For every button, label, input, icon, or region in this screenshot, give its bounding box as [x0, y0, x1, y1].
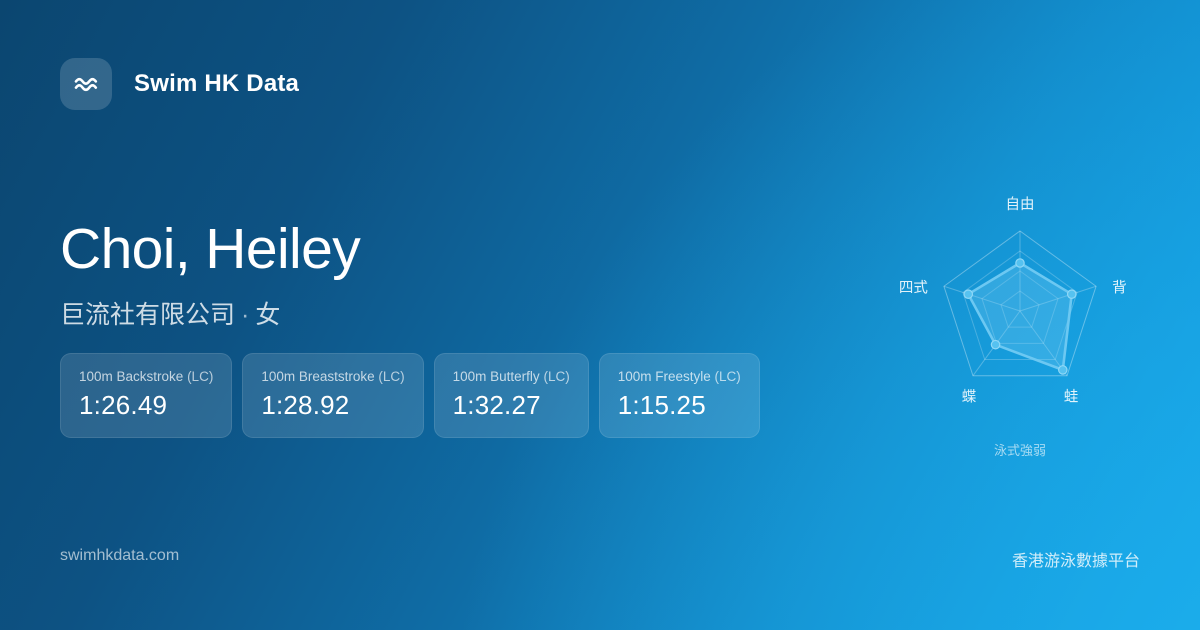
- stat-label: 100m Breaststroke (LC): [261, 369, 404, 384]
- stat-event-name: 100m Backstroke: [79, 369, 183, 384]
- footer-tagline: 香港游泳數據平台: [1012, 547, 1140, 571]
- stat-label: 100m Butterfly (LC): [453, 369, 570, 384]
- athlete-meta: 巨流社有限公司·女: [60, 295, 360, 331]
- stat-card: 100m Breaststroke (LC) 1:28.92: [242, 353, 423, 438]
- meta-separator: ·: [235, 301, 255, 329]
- stat-event-name: 100m Breaststroke: [261, 369, 374, 384]
- stat-value: 1:32.27: [453, 390, 570, 421]
- athlete-club: 巨流社有限公司: [60, 301, 235, 329]
- radar-axis-label: 蝶: [962, 389, 977, 406]
- stat-card: 100m Freestyle (LC) 1:15.25: [599, 353, 760, 438]
- stat-label: 100m Backstroke (LC): [79, 369, 213, 384]
- radar-data-point: [1068, 290, 1076, 298]
- stat-card-list: 100m Backstroke (LC) 1:26.49 100m Breast…: [60, 353, 760, 438]
- radar-caption: 泳式強弱: [860, 440, 1180, 459]
- radar-data-point: [1059, 366, 1067, 374]
- radar-axis-label: 自由: [1006, 196, 1035, 213]
- footer-site-url: swimhkdata.com: [60, 547, 179, 565]
- radar-axis-label: 蛙: [1064, 389, 1079, 406]
- brand-name: Swim HK Data: [134, 70, 299, 98]
- brand-lockup: Swim HK Data: [60, 58, 299, 110]
- stat-course: (LC): [543, 369, 569, 384]
- athlete-gender: 女: [255, 301, 280, 329]
- stat-event-name: 100m Butterfly: [453, 369, 540, 384]
- wave-icon: [60, 58, 112, 110]
- radar-data-point: [964, 290, 972, 298]
- radar-axis-label: 背: [1112, 279, 1127, 296]
- stat-course: (LC): [715, 369, 741, 384]
- stat-course: (LC): [187, 369, 213, 384]
- stat-event-name: 100m Freestyle: [618, 369, 711, 384]
- stat-card: 100m Butterfly (LC) 1:32.27: [434, 353, 589, 438]
- radar-data-point: [1016, 259, 1024, 267]
- og-card-canvas: Swim HK Data Choi, Heiley 巨流社有限公司·女 100m…: [0, 0, 1200, 630]
- page-title: Choi, Heiley: [60, 219, 360, 281]
- hero-block: Choi, Heiley 巨流社有限公司·女: [60, 219, 360, 331]
- radar-axis-label: 四式: [899, 279, 928, 296]
- radar-data-point: [991, 340, 999, 348]
- stat-card: 100m Backstroke (LC) 1:26.49: [60, 353, 232, 438]
- stat-value: 1:26.49: [79, 390, 213, 421]
- stat-course: (LC): [378, 369, 404, 384]
- stat-value: 1:28.92: [261, 390, 404, 421]
- stat-value: 1:15.25: [618, 390, 741, 421]
- stroke-strength-radar-chart: 自由背蛙蝶四式 泳式強弱: [860, 165, 1180, 475]
- stat-label: 100m Freestyle (LC): [618, 369, 741, 384]
- radar-series-area: [968, 263, 1071, 370]
